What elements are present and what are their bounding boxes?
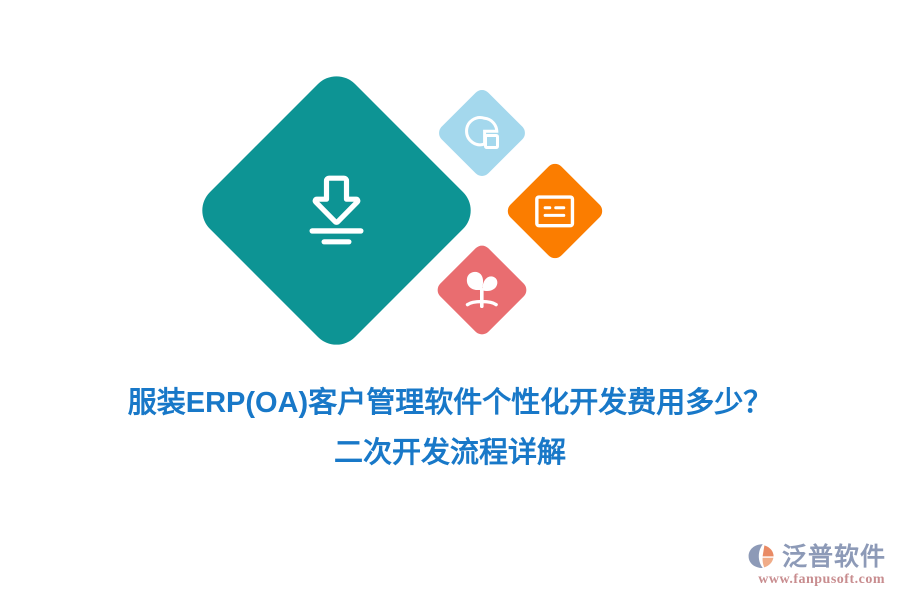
download-save-icon [300,175,374,247]
diamond-red [434,242,530,338]
diamond-light-blue [435,86,528,179]
watermark-url: www.fanpusoft.com [758,572,885,588]
watermark-brand-row: 泛普软件 [747,542,886,570]
page-canvas: 服装ERP(OA)客户管理软件个性化开发费用多少？ 二次开发流程详解 泛普软件 … [0,0,900,600]
page-title-line-2: 二次开发流程详解 [0,428,900,478]
page-title-line-1: 服装ERP(OA)客户管理软件个性化开发费用多少？ [0,378,900,428]
watermark-brand-name: 泛普软件 [782,544,886,569]
diamond-orange [504,160,606,262]
seedling-plant-icon [461,270,503,310]
pie-chart-icon [463,114,501,152]
page-title: 服装ERP(OA)客户管理软件个性化开发费用多少？ 二次开发流程详解 [0,378,900,478]
watermark-logo: 泛普软件 www.fanpusoft.com [747,542,886,588]
diamond-main-teal [192,66,482,356]
fanpu-logo-icon [747,542,777,570]
diamond-icon-cluster [0,0,900,370]
form-card-icon [535,195,575,228]
